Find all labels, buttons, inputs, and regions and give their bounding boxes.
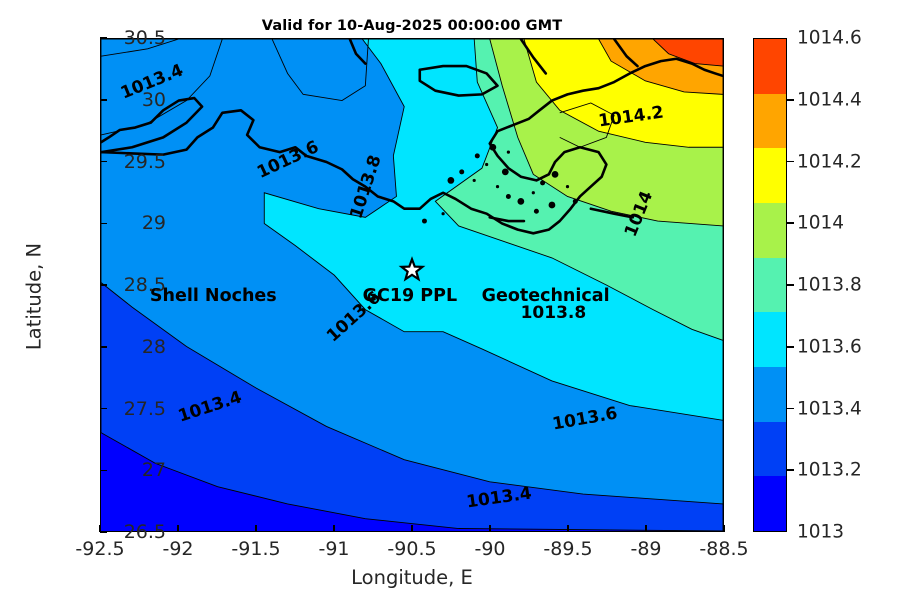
x-tick xyxy=(489,525,491,532)
y-axis-title: Latitude, N xyxy=(23,177,46,417)
contour-label: 1013.8 xyxy=(521,303,587,323)
y-tick-label: 28 xyxy=(96,336,166,358)
colorbar-tick xyxy=(787,284,794,286)
colorbar-band xyxy=(754,148,786,203)
coast-marsh-dot xyxy=(517,198,524,205)
colorbar-band xyxy=(754,203,786,258)
x-tick xyxy=(99,525,101,532)
colorbar-tick-label: 1013 xyxy=(797,522,844,543)
y-tick-label: 28.5 xyxy=(96,274,166,296)
coast-marsh-dot xyxy=(552,171,559,178)
coast-marsh-dot xyxy=(442,212,445,215)
coast-marsh-dot xyxy=(540,180,545,185)
x-tick xyxy=(333,525,335,532)
y-tick-label: 30.5 xyxy=(96,27,166,49)
x-tick xyxy=(411,525,413,532)
colorbar-tick xyxy=(787,99,794,101)
colorbar-tick-label: 1013.4 xyxy=(797,398,862,419)
colorbar-tick-label: 1014.6 xyxy=(797,28,862,49)
coast-marsh-dot xyxy=(422,219,427,224)
colorbar-tick-label: 1014.2 xyxy=(797,151,862,172)
x-tick xyxy=(723,525,725,532)
colorbar-band xyxy=(754,258,786,313)
coast-marsh-dot xyxy=(496,185,499,188)
y-tick-label: 29 xyxy=(96,212,166,234)
colorbar-tick-label: 1013.6 xyxy=(797,336,862,357)
station-label-gc19-ppl[interactable]: GC19 PPL xyxy=(363,286,457,306)
colorbar-tick-label: 1014.4 xyxy=(797,89,862,110)
coast-marsh-dot xyxy=(502,168,509,175)
colorbar-band xyxy=(754,476,786,531)
coast-marsh-dot xyxy=(485,163,488,166)
y-tick-label: 27.5 xyxy=(96,398,166,420)
page-title: Valid for 10-Aug-2025 00:00:00 GMT xyxy=(100,18,724,34)
x-tick xyxy=(255,525,257,532)
colorbar-tick-label: 1014 xyxy=(797,213,844,234)
colorbar-tick xyxy=(787,408,794,410)
coast-marsh-dot xyxy=(534,209,539,214)
y-tick-label: 27 xyxy=(96,459,166,481)
colorbar-band xyxy=(754,94,786,149)
coast-marsh-dot xyxy=(473,179,476,182)
station-label-shell-noches[interactable]: Shell Noches xyxy=(150,286,277,306)
colorbar-band xyxy=(754,312,786,367)
colorbar-tick-label: 1013.8 xyxy=(797,275,862,296)
x-tick-label: -88.5 xyxy=(669,538,779,560)
coast-marsh-dot xyxy=(532,191,535,194)
y-tick-label: 29.5 xyxy=(96,151,166,173)
coast-marsh-dot xyxy=(447,177,454,184)
colorbar-band xyxy=(754,39,786,94)
y-tick-label: 30 xyxy=(96,89,166,111)
coast-marsh-dot xyxy=(549,202,556,209)
x-tick xyxy=(177,525,179,532)
coast-marsh-dot xyxy=(459,169,464,174)
station-label-geotechnical[interactable]: Geotechnical xyxy=(482,286,610,306)
x-axis-title: Longitude, E xyxy=(100,566,724,589)
coast-marsh-dot xyxy=(573,199,578,204)
x-tick xyxy=(567,525,569,532)
colorbar-tick-label: 1013.2 xyxy=(797,460,862,481)
colorbar-band xyxy=(754,422,786,477)
coast-marsh-dot xyxy=(566,185,569,188)
colorbar-tick xyxy=(787,222,794,224)
map-plot-area[interactable]: 1013.41013.61013.81014.210141013.61013.8… xyxy=(100,38,724,532)
colorbar-band xyxy=(754,367,786,422)
colorbar-tick xyxy=(787,346,794,348)
figure-root: Valid for 10-Aug-2025 00:00:00 GMT 1013.… xyxy=(0,0,900,600)
colorbar-tick xyxy=(787,161,794,163)
coast-marsh-dot xyxy=(475,153,480,158)
x-tick xyxy=(645,525,647,532)
colorbar-tick xyxy=(787,469,794,471)
coast-marsh-dot xyxy=(506,194,511,199)
coast-marsh-dot xyxy=(489,144,496,151)
colorbar[interactable] xyxy=(753,38,787,532)
coast-marsh-dot xyxy=(507,151,510,154)
